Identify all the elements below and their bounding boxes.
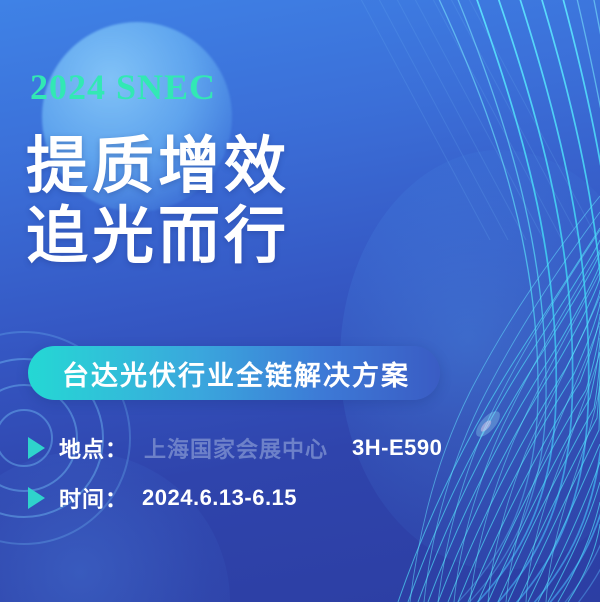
poster-content: 2024 SNEC 提质增效 追光而行 台达光伏行业全链解决方案 地点： 上海国…: [0, 0, 600, 602]
time-label: 时间：: [59, 482, 128, 514]
headline-line-1: 提质增效: [26, 132, 290, 202]
time-value: 2024.6.13-6.15: [142, 485, 297, 511]
location-venue: 上海国家会展中心: [144, 432, 328, 464]
triangle-bullet-icon: [28, 487, 45, 509]
event-eyebrow-title: 2024 SNEC: [30, 66, 216, 108]
solution-pill-banner: 台达光伏行业全链解决方案: [28, 346, 440, 400]
time-row: 时间： 2024.6.13-6.15: [28, 482, 297, 514]
location-booth-number: 3H-E590: [352, 435, 442, 461]
headline-line-2: 追光而行: [26, 202, 290, 272]
location-row: 地点： 上海国家会展中心 3H-E590: [28, 432, 442, 464]
page-title: 提质增效 追光而行: [26, 132, 290, 272]
triangle-bullet-icon: [28, 437, 45, 459]
snec-promo-poster: 2024 SNEC 提质增效 追光而行 台达光伏行业全链解决方案 地点： 上海国…: [0, 0, 600, 602]
solution-pill-label: 台达光伏行业全链解决方案: [62, 354, 410, 393]
location-label: 地点：: [59, 432, 128, 464]
